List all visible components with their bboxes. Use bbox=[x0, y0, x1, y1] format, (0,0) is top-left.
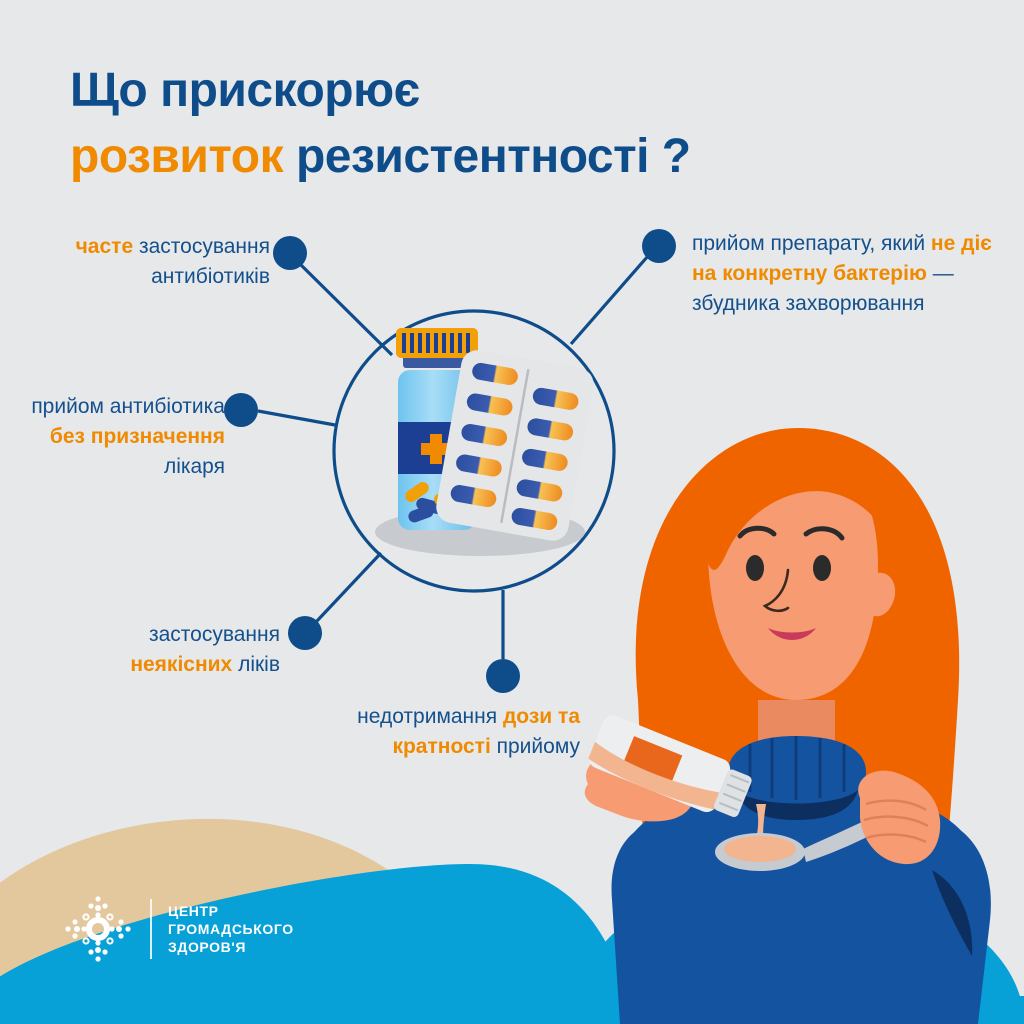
callout-accent-1: часте bbox=[76, 235, 134, 258]
spoon-liquid bbox=[724, 836, 796, 862]
callout-text-2a: прийом препарату, який bbox=[692, 232, 931, 255]
callout-frequent-antibiotic-use: часте застосування антибіотиків bbox=[60, 232, 270, 292]
node-bot-left[interactable] bbox=[288, 616, 322, 650]
callout-text-4a: застосування bbox=[149, 623, 280, 646]
node-top-left[interactable] bbox=[273, 236, 307, 270]
connector-mid-left bbox=[258, 411, 335, 425]
page-title: Що прискорює розвиток резистентності ? bbox=[70, 58, 970, 190]
title-line-2-rest: резистентності ? bbox=[296, 130, 691, 183]
logo-line-1: ЦЕНТР bbox=[168, 902, 294, 920]
callout-text-3a: прийом антибіотика bbox=[31, 395, 225, 418]
callout-no-prescription: прийом антибіотика без призначення лікар… bbox=[30, 392, 225, 482]
node-top-right[interactable] bbox=[642, 229, 676, 263]
logo-line-2: ГРОМАДСЬКОГО bbox=[168, 920, 294, 938]
node-mid-left[interactable] bbox=[224, 393, 258, 427]
callout-text-5a: недотримання bbox=[357, 705, 503, 728]
left-eye bbox=[746, 555, 764, 581]
logo-wordmark: ЦЕНТР ГРОМАДСЬКОГО ЗДОРОВ'Я bbox=[168, 902, 294, 956]
bottle-cap-ridges bbox=[402, 333, 470, 353]
title-accent-word: розвиток bbox=[70, 130, 296, 183]
callout-text-3b: лікаря bbox=[164, 455, 225, 478]
logo-line-3: ЗДОРОВ'Я bbox=[168, 938, 294, 956]
callout-low-quality-drugs: застосування неякісних ліків bbox=[60, 620, 280, 680]
node-bottom[interactable] bbox=[486, 659, 520, 693]
callout-text-5b: прийому bbox=[491, 735, 580, 758]
callout-text-1: застосування антибіотиків bbox=[133, 235, 270, 288]
woman-pouring-medicine-illustration bbox=[560, 400, 1024, 1024]
logo-divider bbox=[150, 899, 152, 959]
title-line-1: Що прискорює bbox=[70, 64, 420, 117]
right-eye bbox=[813, 555, 831, 581]
infographic-canvas: часте застосування антибіотиків прийом п… bbox=[0, 0, 1024, 1024]
callout-wrong-drug: прийом препарату, який не діє на конкрет… bbox=[692, 229, 992, 319]
callout-dose-frequency: недотримання дози та кратності прийому bbox=[330, 702, 580, 762]
callout-accent-3: без призначення bbox=[50, 425, 225, 448]
logo-block[interactable]: ЦЕНТР ГРОМАДСЬКОГО ЗДОРОВ'Я bbox=[62, 893, 294, 965]
callout-text-4b: ліків bbox=[232, 653, 280, 676]
title-line-2: розвиток резистентності ? bbox=[70, 124, 970, 190]
public-health-center-mark-icon bbox=[62, 893, 134, 965]
callout-accent-4: неякісних bbox=[130, 653, 232, 676]
